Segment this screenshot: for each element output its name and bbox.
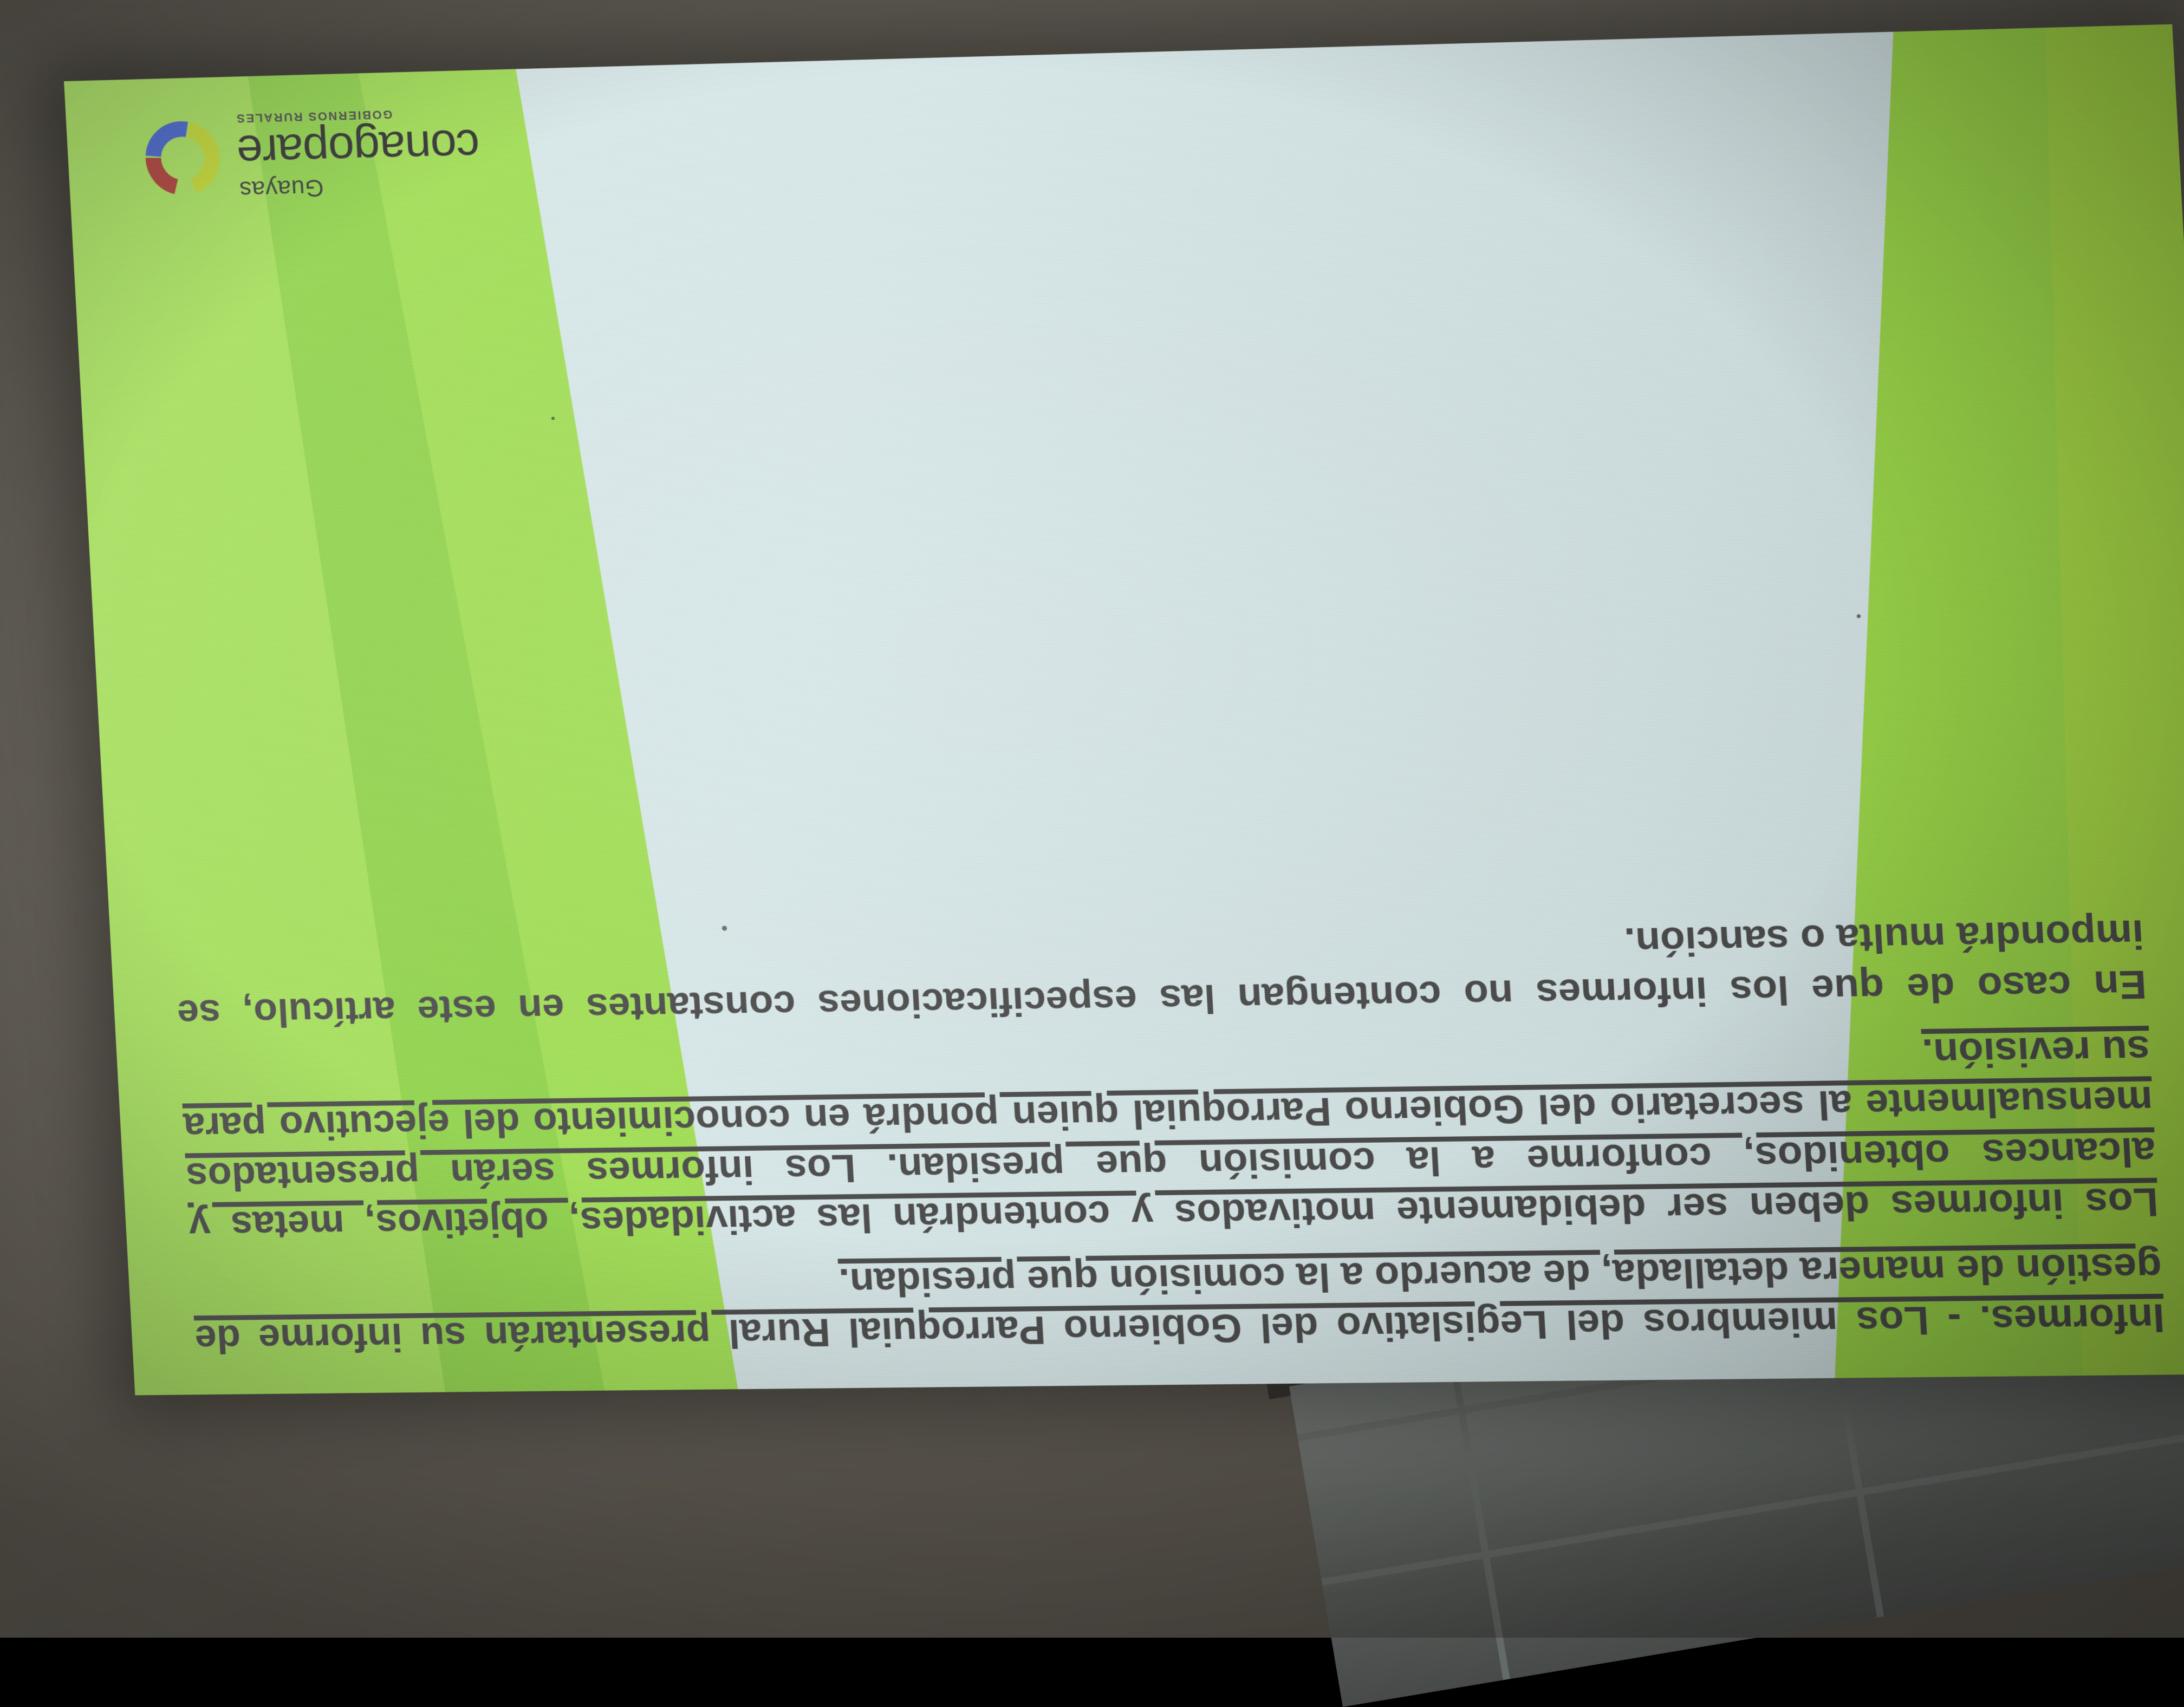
slide-content: Informes. - Los miembros del Legislativo… — [64, 24, 2184, 1396]
slide-body-text: Informes. - Los miembros del Legislativo… — [122, 153, 2184, 1363]
logo-region-label: Guayas — [239, 175, 324, 201]
conagopare-logo: Guayas conagopare GOBIERNOS RURALES — [140, 106, 483, 204]
conagopare-ring-icon — [140, 116, 226, 200]
presentation-slide: Informes. - Los miembros del Legislativo… — [64, 24, 2184, 1396]
projection-screen: Informes. - Los miembros del Legislativo… — [64, 24, 2184, 1396]
paragraph-sancion: En caso de que los informes no contengan… — [173, 908, 2148, 1038]
paragraph-informes: Informes. - Los miembros del Legislativo… — [191, 1241, 2166, 1364]
paragraph-contenido-informes: Los informes deben ser debidamente motiv… — [179, 1024, 2160, 1250]
logo-wordmark: conagopare — [236, 122, 481, 175]
room-background: Informes. - Los miembros del Legislativo… — [0, 0, 2184, 1638]
